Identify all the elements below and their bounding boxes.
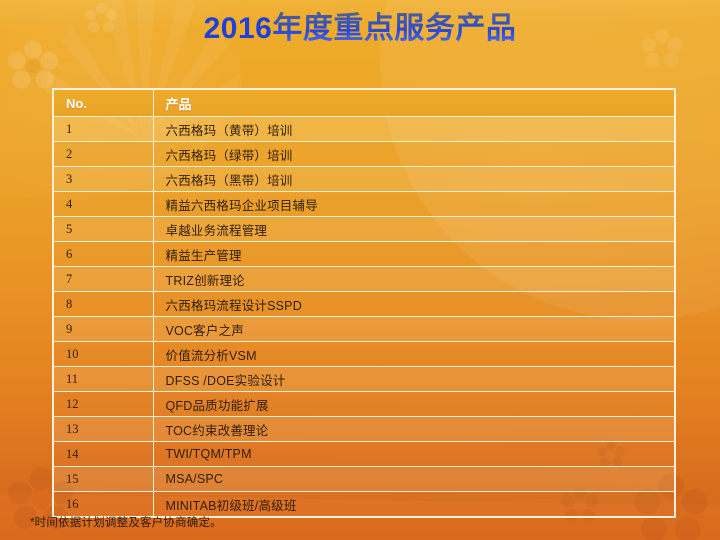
table-row: 1六西格玛（黄带）培训 [53,117,675,142]
row-number: 13 [53,417,153,442]
row-number: 6 [53,242,153,267]
row-product-name: QFD品质功能扩展 [153,392,675,417]
row-product-name: 六西格玛（黄带）培训 [153,117,675,142]
row-number: 12 [53,392,153,417]
row-product-name: MSA/SPC [153,467,675,492]
row-product-name: TWI/TQM/TPM [153,442,675,467]
page-title-year: 2016 [204,12,273,45]
row-number: 15 [53,467,153,492]
row-product-name: TRIZ创新理论 [153,267,675,292]
row-product-name: 六西格玛（黑带）培训 [153,167,675,192]
page-title: 2016年度重点服务产品 [204,8,517,50]
table-row: 14TWI/TQM/TPM [53,442,675,467]
row-product-name: 精益生产管理 [153,242,675,267]
row-product-name: MINITAB初级班/高级班 [153,492,675,518]
row-product-name: 精益六西格玛企业项目辅导 [153,192,675,217]
table-row: 9VOC客户之声 [53,317,675,342]
row-product-name: DFSS /DOE实验设计 [153,367,675,392]
table-row: 6精益生产管理 [53,242,675,267]
table-row: 7TRIZ创新理论 [53,267,675,292]
product-table: No. 产品 1六西格玛（黄带）培训2六西格玛（绿带）培训3六西格玛（黑带）培训… [52,88,676,518]
row-product-name: TOC约束改善理论 [153,417,675,442]
table-row: 10价值流分析VSM [53,342,675,367]
row-product-name: 六西格玛流程设计SSPD [153,292,675,317]
row-number: 10 [53,342,153,367]
slide-canvas: 2016年度重点服务产品 No. 产品 1六西格玛（黄带）培训2六西格玛（绿带）… [0,0,720,540]
row-product-name: 卓越业务流程管理 [153,217,675,242]
row-number: 14 [53,442,153,467]
table-row: 11DFSS /DOE实验设计 [53,367,675,392]
title-container: 2016年度重点服务产品 [0,8,720,50]
row-number: 1 [53,117,153,142]
table-row: 5卓越业务流程管理 [53,217,675,242]
row-product-name: 价值流分析VSM [153,342,675,367]
row-number: 5 [53,217,153,242]
table-header: No. 产品 [53,89,675,117]
row-number: 11 [53,367,153,392]
row-number: 2 [53,142,153,167]
row-number: 4 [53,192,153,217]
table-row: 3六西格玛（黑带）培训 [53,167,675,192]
footnote: *时间依据计划调整及客户协商确定。 [30,514,222,530]
table-row: 12QFD品质功能扩展 [53,392,675,417]
row-product-name: 六西格玛（绿带）培训 [153,142,675,167]
row-number: 9 [53,317,153,342]
column-header-no: No. [53,89,153,117]
row-product-name: VOC客户之声 [153,317,675,342]
table-row: 15MSA/SPC [53,467,675,492]
row-number: 3 [53,167,153,192]
table-header-row: No. 产品 [53,89,675,117]
table-row: 13TOC约束改善理论 [53,417,675,442]
table-row: 4精益六西格玛企业项目辅导 [53,192,675,217]
table-row: 8六西格玛流程设计SSPD [53,292,675,317]
row-number: 7 [53,267,153,292]
row-number: 8 [53,292,153,317]
column-header-product: 产品 [153,89,675,117]
page-title-text: 年度重点服务产品 [272,12,516,45]
table-body: 1六西格玛（黄带）培训2六西格玛（绿带）培训3六西格玛（黑带）培训4精益六西格玛… [53,117,675,518]
table-row: 2六西格玛（绿带）培训 [53,142,675,167]
